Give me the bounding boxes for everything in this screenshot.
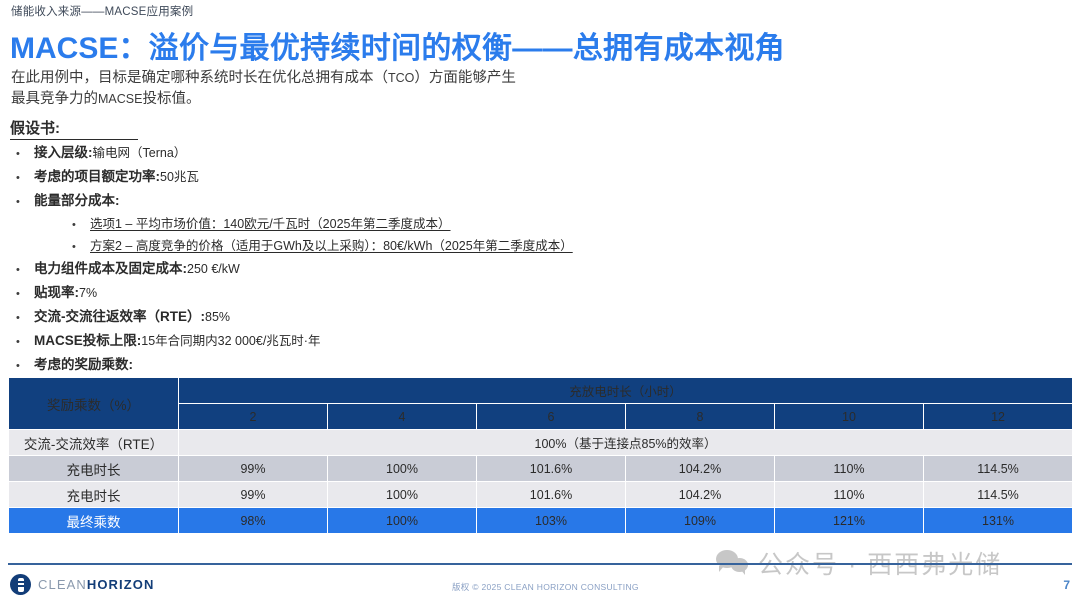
assumption-label: 接入层级: xyxy=(34,142,93,163)
incentive-multiplier-table: 奖励乘数（%） 充放电时长（小时） 24681012 交流-交流效率（RTE）1… xyxy=(8,377,1073,534)
breadcrumb: 储能收入来源——MACSE应用案例 xyxy=(11,3,193,19)
table-row: 充电时长99%100%101.6%104.2%110%114.5% xyxy=(9,456,1073,482)
table-group-header: 充放电时长（小时） xyxy=(179,378,1073,404)
table-row: 最终乘数98%100%103%109%121%131% xyxy=(9,508,1073,534)
bullet-dot-icon: • xyxy=(10,308,34,329)
clean-horizon-emblem-icon xyxy=(10,574,31,595)
assumption-label: 考虑的项目额定功率: xyxy=(34,166,160,187)
assumption-item: •选项1 – 平均市场价值：140欧元/千瓦时（2025年第二季度成本） xyxy=(10,214,750,235)
assumption-value: 15年合同期内32 000€/兆瓦时·年 xyxy=(141,331,320,352)
table-cell: 101.6% xyxy=(477,456,626,482)
page-title-en: MACSE xyxy=(10,32,118,65)
table-cell: 114.5% xyxy=(924,456,1073,482)
table-row-label: 最终乘数 xyxy=(9,508,179,534)
logo-clean: CLEAN xyxy=(38,577,87,592)
duration-column-header: 10 xyxy=(775,404,924,430)
duration-column-header: 4 xyxy=(328,404,477,430)
intro-line1-a: 在此用例中，目标是确定哪种系统时长在优化总拥有成本（ xyxy=(11,70,388,86)
assumption-label: 贴现率: xyxy=(34,282,79,303)
assumption-sub-value: 选项1 – 平均市场价值：140欧元/千瓦时（2025年第二季度成本） xyxy=(90,214,451,234)
intro-line1-b: TCO xyxy=(388,71,414,85)
assumption-value: 250 €/kW xyxy=(187,259,240,280)
slide-canvas: 储能收入来源——MACSE应用案例 MACSE：溢价与最优持续时间的权衡——总拥… xyxy=(0,0,1080,608)
table-row: 交流-交流效率（RTE）100%（基于连接点85%的效率） xyxy=(9,430,1073,456)
duration-column-header: 12 xyxy=(924,404,1073,430)
table-head-row-group: 奖励乘数（%） 充放电时长（小时） xyxy=(9,378,1073,404)
assumption-value: 7% xyxy=(79,283,97,304)
table-cell: 98% xyxy=(179,508,328,534)
assumption-item: •考虑的奖励乘数: xyxy=(10,354,750,377)
table-cell: 121% xyxy=(775,508,924,534)
assumption-item: •能量部分成本: xyxy=(10,190,750,213)
bullet-dot-icon: • xyxy=(10,168,34,189)
bullet-dot-icon: • xyxy=(66,237,90,257)
assumption-item: •MACSE投标上限: 15年合同期内32 000€/兆瓦时·年 xyxy=(10,330,750,353)
table-cell: 99% xyxy=(179,482,328,508)
page-title: MACSE：溢价与最优持续时间的权衡——总拥有成本视角 xyxy=(10,23,785,67)
assumption-label: 电力组件成本及固定成本: xyxy=(34,258,187,279)
table-body: 交流-交流效率（RTE）100%（基于连接点85%的效率）充电时长99%100%… xyxy=(9,430,1073,534)
table-row-label: 交流-交流效率（RTE） xyxy=(9,430,179,456)
table-row-label: 充电时长 xyxy=(9,456,179,482)
assumption-label: 能量部分成本: xyxy=(34,190,120,211)
table-cell: 131% xyxy=(924,508,1073,534)
assumption-item: •方案2 – 高度竞争的价格（适用于GWh及以上采购）：80€/kWh（2025… xyxy=(10,236,750,257)
table-cell: 101.6% xyxy=(477,482,626,508)
assumption-value: 50兆瓦 xyxy=(160,167,199,188)
assumption-item: •电力组件成本及固定成本: 250 €/kW xyxy=(10,258,750,281)
bullet-dot-icon: • xyxy=(10,356,34,377)
intro-line1-c: ）方面能够产生 xyxy=(414,70,516,86)
bullet-dot-icon: • xyxy=(10,144,34,165)
bullet-dot-icon: • xyxy=(10,192,34,213)
assumption-item: •贴现率: 7% xyxy=(10,282,750,305)
table-cell: 114.5% xyxy=(924,482,1073,508)
table-head: 奖励乘数（%） 充放电时长（小时） 24681012 xyxy=(9,378,1073,430)
bullet-dot-icon: • xyxy=(10,284,34,305)
table-cell: 100% xyxy=(328,508,477,534)
assumptions-list: •接入层级: 输电网（Terna）•考虑的项目额定功率: 50兆瓦•能量部分成本… xyxy=(10,142,750,378)
table-merged-cell: 100%（基于连接点85%的效率） xyxy=(179,430,1073,456)
table-cell: 104.2% xyxy=(626,456,775,482)
table-cell: 103% xyxy=(477,508,626,534)
assumption-item: •考虑的项目额定功率: 50兆瓦 xyxy=(10,166,750,189)
table-row: 充电时长99%100%101.6%104.2%110%114.5% xyxy=(9,482,1073,508)
footer-divider xyxy=(8,563,1072,565)
table-row-label: 充电时长 xyxy=(9,482,179,508)
intro-line2-b: MACSE xyxy=(98,92,142,106)
bullet-dot-icon: • xyxy=(10,260,34,281)
intro-line2-a: 最具竞争力的 xyxy=(11,91,98,107)
assumption-item: •交流-交流往返效率（RTE）: 85% xyxy=(10,306,750,329)
intro-paragraph: 在此用例中，目标是确定哪种系统时长在优化总拥有成本（TCO）方面能够产生 最具竞… xyxy=(11,68,671,110)
assumption-item: •接入层级: 输电网（Terna） xyxy=(10,142,750,165)
bullet-dot-icon: • xyxy=(66,215,90,235)
assumptions-heading: 假设书: xyxy=(10,117,138,140)
table-cell: 99% xyxy=(179,456,328,482)
table-cell: 104.2% xyxy=(626,482,775,508)
page-number: 7 xyxy=(1063,578,1070,592)
page-title-zh: ：溢价与最优持续时间的权衡——总拥有成本视角 xyxy=(118,32,785,65)
duration-column-header: 2 xyxy=(179,404,328,430)
intro-line2-c: 投标值。 xyxy=(142,91,200,107)
duration-column-header: 6 xyxy=(477,404,626,430)
table-corner-label: 奖励乘数（%） xyxy=(9,378,179,430)
table-cell: 100% xyxy=(328,456,477,482)
duration-column-header: 8 xyxy=(626,404,775,430)
logo-wordmark: CLEANHORIZON xyxy=(38,577,155,592)
company-logo: CLEANHORIZON xyxy=(10,574,155,595)
assumption-label: 交流-交流往返效率（RTE）: xyxy=(34,306,205,327)
logo-horizon: HORIZON xyxy=(87,577,155,592)
assumption-value: 输电网（Terna） xyxy=(93,143,187,164)
assumption-label: MACSE投标上限: xyxy=(34,330,141,351)
bullet-dot-icon: • xyxy=(10,332,34,353)
table-cell: 100% xyxy=(328,482,477,508)
assumption-sub-value: 方案2 – 高度竞争的价格（适用于GWh及以上采购）：80€/kWh（2025年… xyxy=(90,236,573,256)
table-cell: 110% xyxy=(775,456,924,482)
table-cell: 110% xyxy=(775,482,924,508)
copyright-notice: 版权 © 2025 CLEAN HORIZON CONSULTING xyxy=(452,581,639,593)
assumption-value: 85% xyxy=(205,307,230,328)
table-cell: 109% xyxy=(626,508,775,534)
assumption-label: 考虑的奖励乘数: xyxy=(34,354,133,375)
